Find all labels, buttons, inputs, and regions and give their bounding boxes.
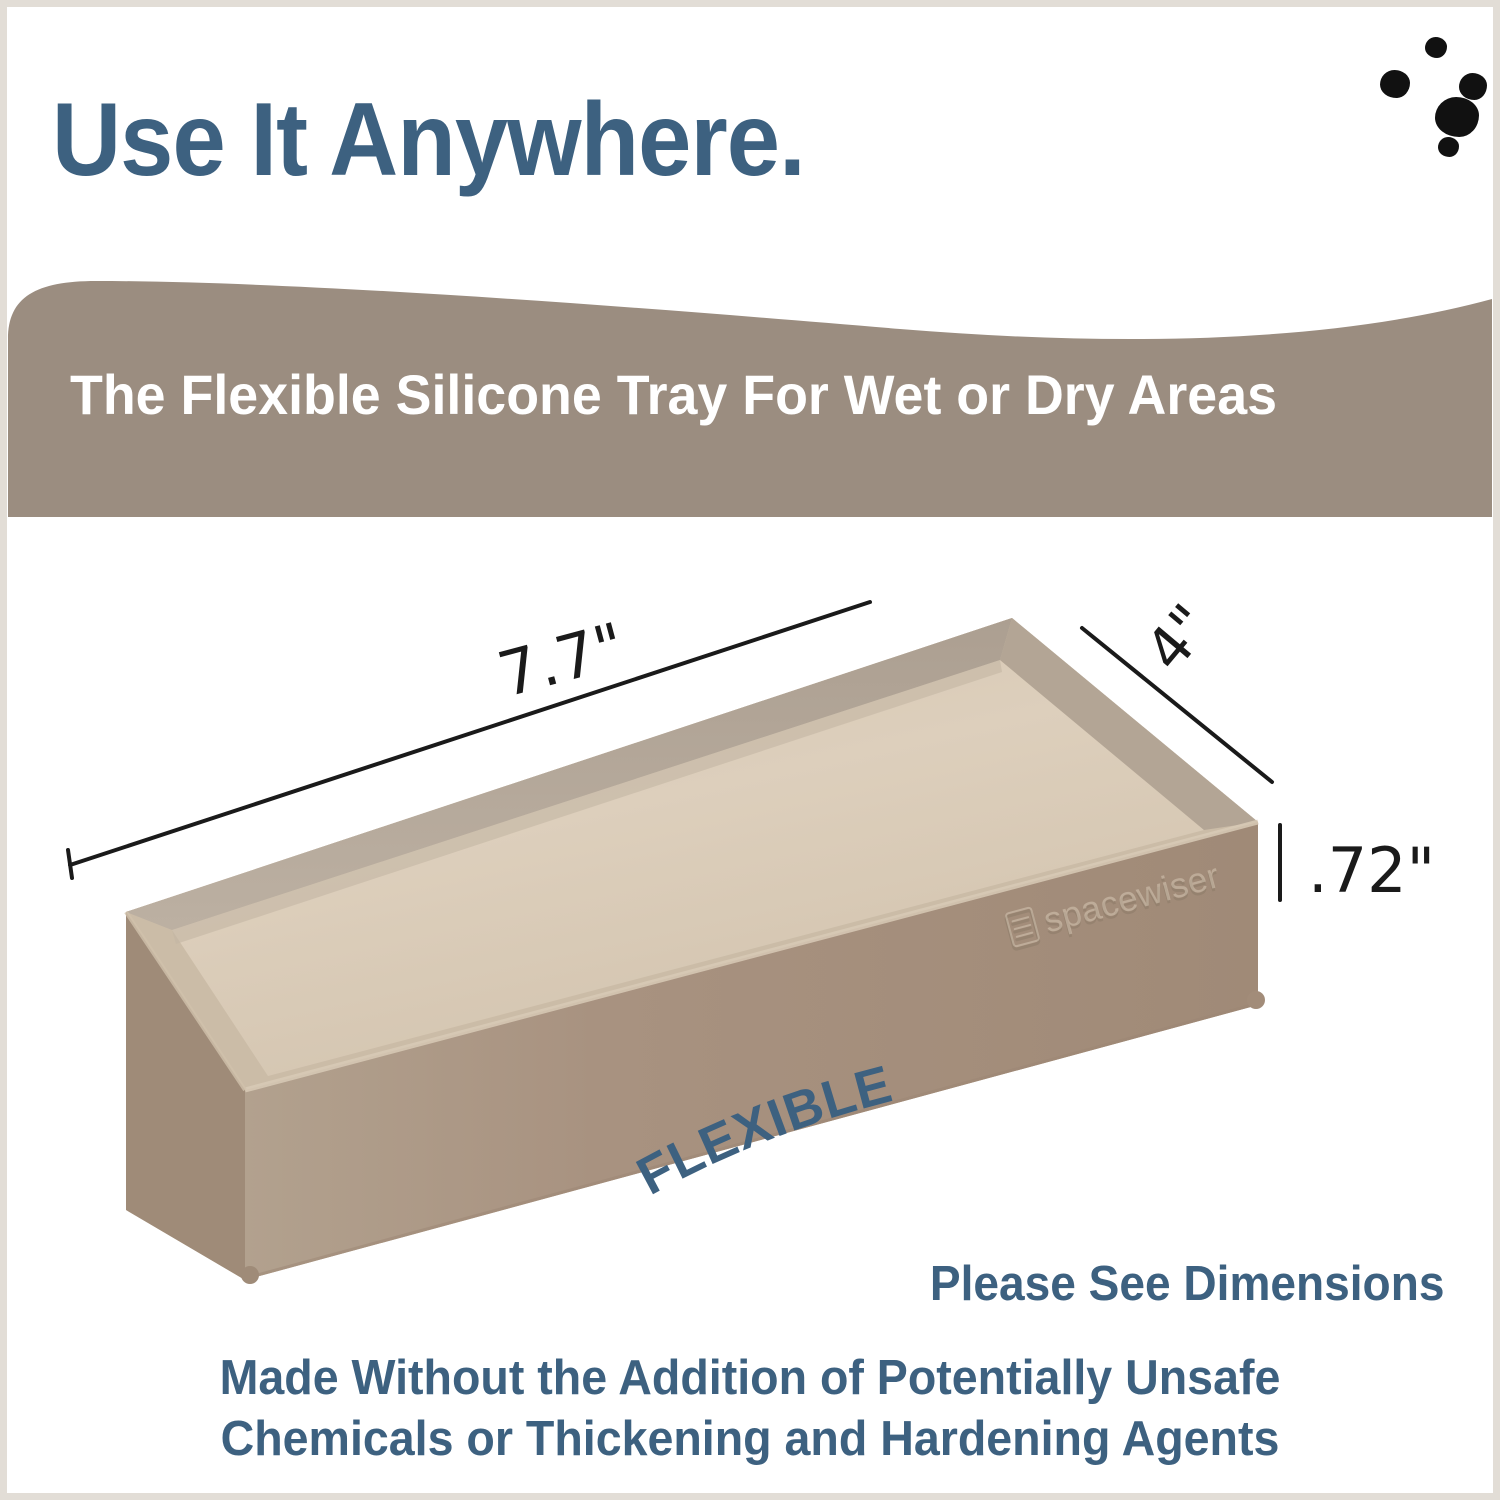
decor-dot-2 [1380,70,1410,98]
marketing-image: Use It Anywhere. The Flexible Silicone T… [0,0,1500,1500]
dimension-label-height: .72" [1308,834,1435,907]
safety-claim-text: Made Without the Addition of Potentially… [0,1348,1500,1471]
decor-dot-1 [1425,37,1447,58]
flexible-label-text: FLEXIBLE [628,1055,899,1207]
decor-dot-3 [1459,73,1487,100]
decor-dot-5 [1438,137,1459,157]
flexible-label: FLEXIBLE [640,1068,980,1208]
decorative-dot-cluster [1340,15,1500,175]
claim-line-2: Chemicals or Thickening and Hardening Ag… [38,1409,1463,1470]
claim-line-1: Made Without the Addition of Potentially… [38,1348,1463,1409]
page-title: Use It Anywhere. [52,88,805,192]
subheading-text: The Flexible Silicone Tray For Wet or Dr… [70,362,1277,427]
decor-dot-4 [1435,97,1479,137]
please-see-dimensions-text: Please See Dimensions [929,1256,1444,1312]
